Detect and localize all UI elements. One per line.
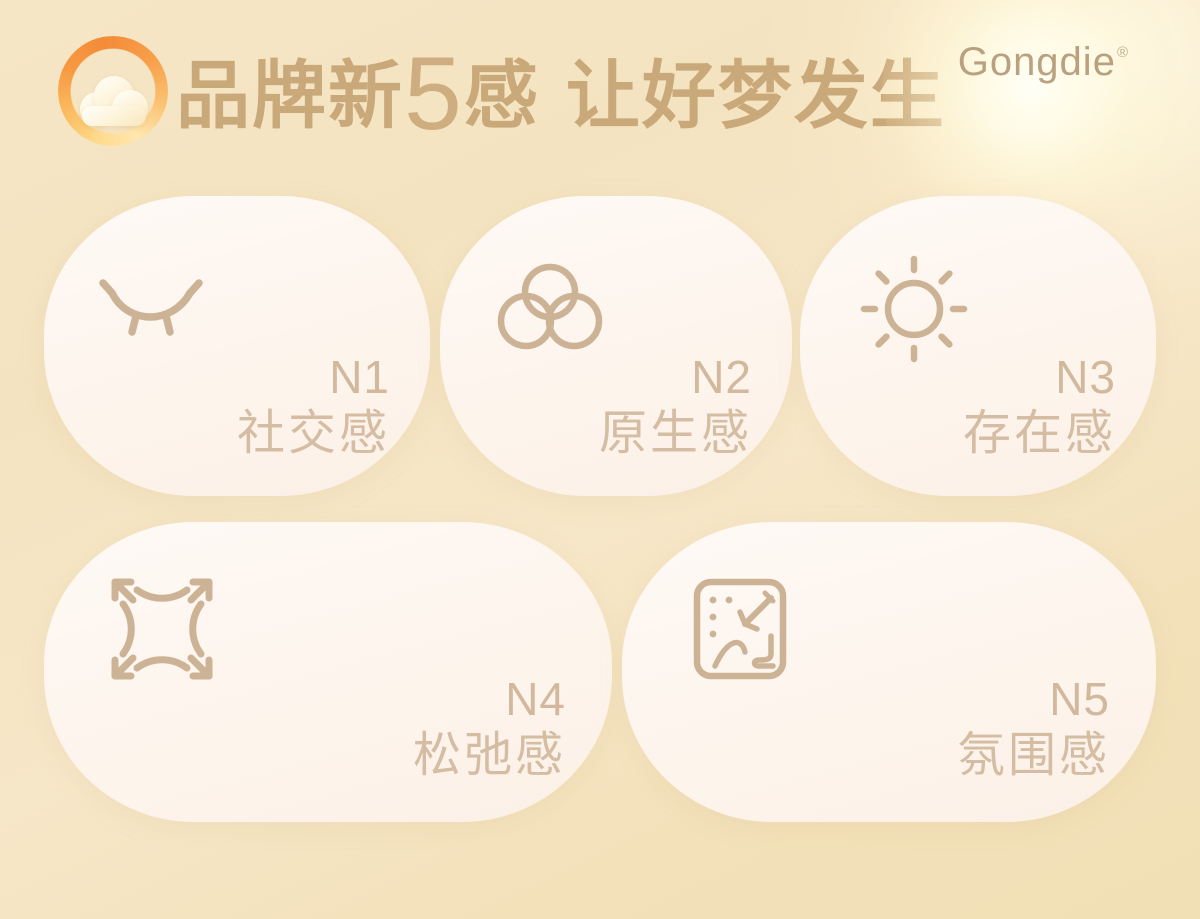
- title-prefix: 品牌新: [176, 59, 404, 133]
- card-name: 存在感: [963, 410, 1116, 458]
- ring-cloud-logo-icon: [58, 36, 168, 146]
- brand-logotype: Gongdie ®: [958, 40, 1128, 85]
- card-label-group: N3 存在感: [963, 354, 1116, 458]
- card-code: N1: [237, 354, 390, 400]
- expand-arrows-icon: [102, 574, 222, 684]
- title-number: 5: [404, 42, 462, 146]
- card-label-group: N2 原生感: [599, 354, 752, 458]
- card-code: N4: [413, 676, 566, 722]
- feature-card-n2[interactable]: N2 原生感: [440, 196, 792, 496]
- poster-canvas: 品牌新 5 感 让好梦发生 Gongdie ®: [0, 0, 1200, 919]
- closed-eye-icon: [98, 254, 218, 364]
- card-row-top: N1 社交感 N2 原生感: [0, 196, 1200, 496]
- card-label-group: N5 氛围感: [957, 676, 1110, 780]
- feature-card-n3[interactable]: N3 存在感: [800, 196, 1156, 496]
- card-label-group: N1 社交感: [237, 354, 390, 458]
- card-name: 氛围感: [957, 732, 1110, 780]
- feature-card-n4[interactable]: N4 松弛感: [44, 522, 612, 822]
- card-name: 原生感: [599, 410, 752, 458]
- title-suffix: 让好梦发生: [566, 59, 946, 133]
- three-circles-cloud-icon: [494, 254, 614, 364]
- brand-name: Gongdie: [958, 40, 1116, 85]
- card-label-group: N4 松弛感: [413, 676, 566, 780]
- card-name: 松弛感: [413, 732, 566, 780]
- drawing-tablet-pen-icon: [680, 574, 800, 684]
- feature-card-n5[interactable]: N5 氛围感: [622, 522, 1156, 822]
- card-code: N2: [599, 354, 752, 400]
- trademark-symbol: ®: [1117, 44, 1129, 61]
- card-code: N3: [963, 354, 1116, 400]
- title-middle: 感: [464, 59, 540, 133]
- card-code: N5: [957, 676, 1110, 722]
- card-name: 社交感: [237, 410, 390, 458]
- poster-header: 品牌新 5 感 让好梦发生 Gongdie ®: [0, 0, 1200, 170]
- page-title: 品牌新 5 感 让好梦发生: [176, 34, 946, 138]
- feature-card-n1[interactable]: N1 社交感: [44, 196, 430, 496]
- feature-card-grid: N1 社交感 N2 原生感: [0, 196, 1200, 856]
- card-row-bottom: N4 松弛感: [0, 522, 1200, 822]
- logo-cloud-shape: [80, 76, 148, 126]
- sun-icon: [854, 254, 974, 364]
